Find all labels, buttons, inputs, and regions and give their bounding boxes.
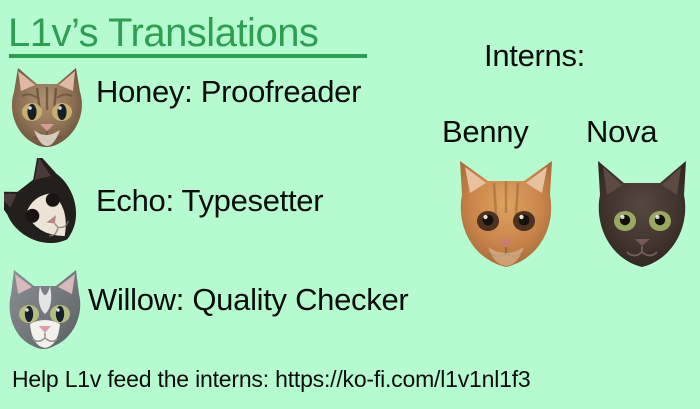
intern-name-benny: Benny — [442, 114, 528, 150]
roster-row: Honey: Proofreader — [96, 74, 361, 110]
title-underline — [9, 54, 367, 58]
intern-name-nova: Nova — [586, 114, 657, 150]
roster-item-label: Echo: Typesetter — [96, 183, 323, 219]
echo-cat-photo — [4, 158, 82, 262]
nova-kitten-photo — [592, 155, 692, 273]
benny-kitten-photo — [452, 155, 560, 273]
credits-card: L1v’s Translations — [0, 0, 700, 409]
roster-item-label: Willow: Quality Checker — [88, 282, 408, 318]
roster-item-label: Honey: Proofreader — [96, 74, 361, 110]
interns-heading: Interns: — [484, 38, 585, 74]
roster-row: Willow: Quality Checker — [88, 282, 408, 318]
honey-cat-photo — [4, 62, 90, 150]
support-link-text[interactable]: Help L1v feed the interns: https://ko-fi… — [12, 365, 530, 393]
roster-row: Echo: Typesetter — [96, 183, 323, 219]
page-title: L1v’s Translations — [8, 10, 318, 56]
willow-cat-photo — [2, 266, 88, 352]
